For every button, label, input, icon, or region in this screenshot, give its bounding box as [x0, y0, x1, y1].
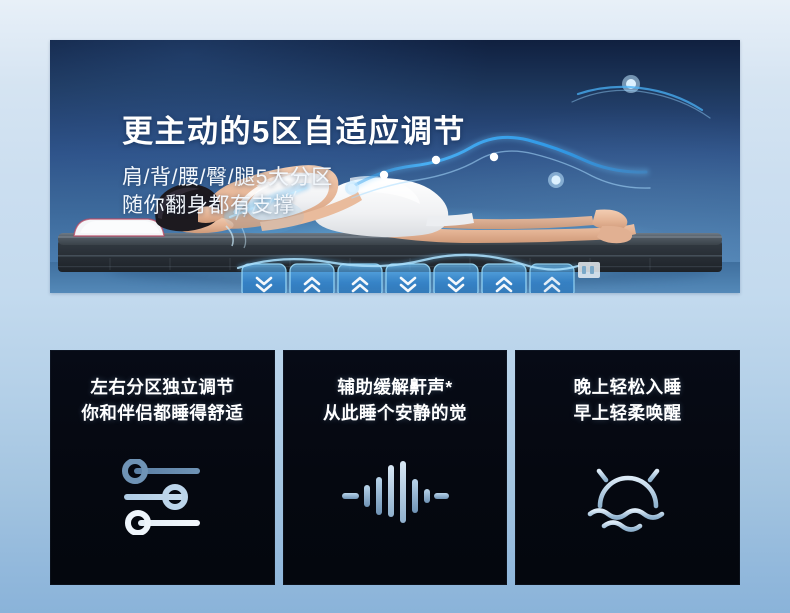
- chevron-double-down-icon: [401, 278, 415, 291]
- hero-subtitle-line-1: 肩/背/腰/臀/腿5大分区: [122, 164, 333, 192]
- sunrise-icon: [573, 457, 683, 537]
- card-title-line-1: 左右分区独立调节: [81, 374, 243, 400]
- chevron-double-up-icon: [305, 278, 319, 291]
- pillow: [74, 219, 164, 236]
- chevron-double-down-icon: [449, 278, 463, 291]
- chevron-double-up-icon: [497, 278, 511, 291]
- chevron-double-up-icon: [545, 278, 559, 291]
- chevron-double-down-icon: [257, 278, 271, 291]
- card-title: 左右分区独立调节 你和伴侣都睡得舒适: [81, 374, 243, 426]
- hero-subtitle: 肩/背/腰/臀/腿5大分区 随你翻身都有支撑: [122, 164, 333, 220]
- card-title-line-1: 辅助缓解鼾声*: [323, 374, 467, 400]
- card-title-line-1: 晚上轻松入睡: [574, 374, 682, 400]
- card-title-line-2: 早上轻柔唤醒: [574, 400, 682, 426]
- sound-wave-icon: [340, 457, 450, 537]
- hero-panel: 更主动的5区自适应调节 肩/背/腰/臀/腿5大分区 随你翻身都有支撑: [50, 40, 740, 293]
- feature-card-dual-zone[interactable]: 左右分区独立调节 你和伴侣都睡得舒适: [50, 350, 275, 585]
- feature-card-snore-relief[interactable]: 辅助缓解鼾声* 从此睡个安静的觉: [283, 350, 508, 585]
- card-title: 辅助缓解鼾声* 从此睡个安静的觉: [323, 374, 467, 426]
- hero-subtitle-line-2: 随你翻身都有支撑: [122, 192, 333, 220]
- feature-card-sleep-wake[interactable]: 晚上轻松入睡 早上轻柔唤醒: [515, 350, 740, 585]
- hero-title: 更主动的5区自适应调节: [122, 106, 466, 151]
- feature-card-list: 左右分区独立调节 你和伴侣都睡得舒适: [50, 350, 740, 585]
- card-title-line-2: 从此睡个安静的觉: [323, 400, 467, 426]
- zone-blocks: [238, 255, 600, 293]
- chevron-double-up-icon: [353, 278, 367, 291]
- card-title-line-2: 你和伴侣都睡得舒适: [81, 400, 243, 426]
- sliders-icon: [107, 457, 217, 537]
- card-title: 晚上轻松入睡 早上轻柔唤醒: [574, 374, 682, 426]
